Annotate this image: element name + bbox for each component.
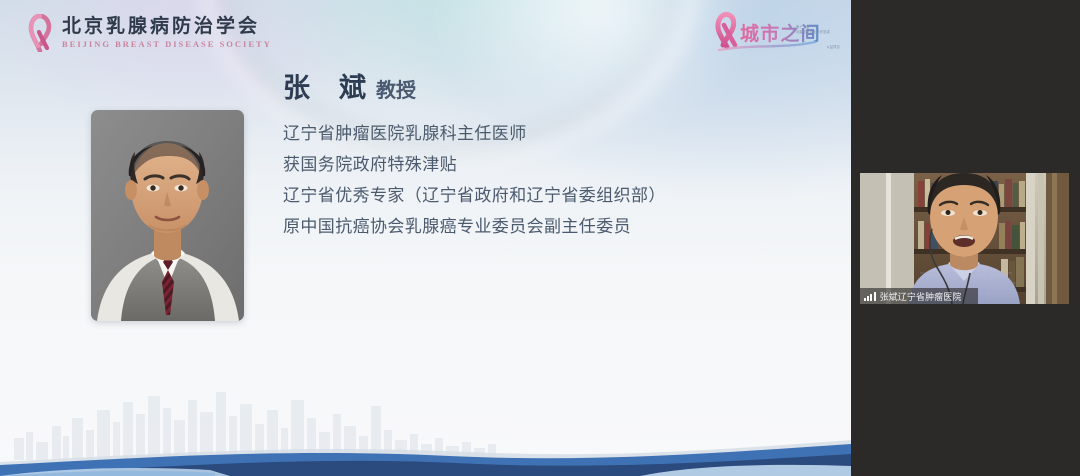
speaker-bio-line: 辽宁省优秀专家（辽宁省政府和辽宁省委组织部） [283,181,823,212]
program-logo: 城市之间 第十二届 乳腺癌规范化诊疗巡讲 公益项目 [711,9,841,57]
participant-name-text: 张斌辽宁省肿瘤医院 [880,290,962,303]
participant-name-label: 张斌辽宁省肿瘤医院 [860,288,978,304]
speaker-name-row: 张 斌 教授 [283,66,823,105]
society-logo: 北京乳腺病防治学会 BEIJING BREAST DISEASE SOCIETY [27,14,272,52]
pink-ribbon-icon [27,14,53,52]
speaker-title: 教授 [376,74,416,103]
speaker-name: 张 斌 [283,66,367,105]
slide-footer-decoration [0,366,851,476]
speaker-bio-line: 辽宁省肿瘤医院乳腺科主任医师 [283,119,823,150]
program-logo-subtitle: 第十二届 乳腺癌规范化诊疗巡讲 公益项目 [796,25,840,50]
city-skyline-silhouette [14,392,496,460]
speaker-bio-line: 原中国抗癌协会乳腺癌专业委员会副主任委员 [283,212,823,243]
program-sub-line-2: 乳腺癌规范化诊疗巡讲 [796,30,840,35]
participant-video-tile[interactable]: 张斌辽宁省肿瘤医院 [860,173,1069,304]
participant-video-panel: 张斌辽宁省肿瘤医院 [851,0,1080,476]
society-name-cn: 北京乳腺病防治学会 [62,17,272,36]
program-sub-line-3: 公益项目 [796,45,840,50]
signal-bars-icon [864,292,876,301]
speaker-bio-line: 获国务院政府特殊津贴 [283,150,823,181]
shared-slide: 北京乳腺病防治学会 BEIJING BREAST DISEASE SOCIETY [0,0,851,476]
speaker-info-block: 张 斌 教授 辽宁省肿瘤医院乳腺科主任医师 获国务院政府特殊津贴 辽宁省优秀专家… [283,66,823,243]
speaker-portrait-photo [91,110,244,321]
screen-share-meeting-view: 北京乳腺病防治学会 BEIJING BREAST DISEASE SOCIETY [0,0,1080,476]
society-name-en: BEIJING BREAST DISEASE SOCIETY [62,40,272,49]
